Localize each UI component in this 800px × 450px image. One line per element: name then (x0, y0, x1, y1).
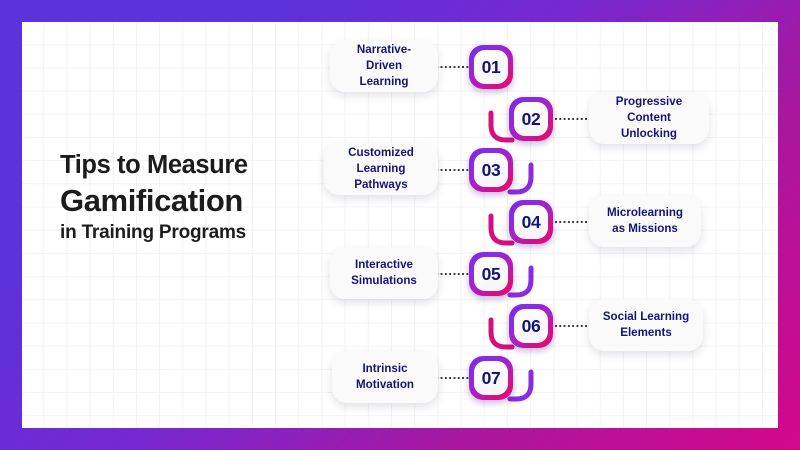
step-card-07[interactable]: Intrinsic Motivation (332, 351, 438, 403)
title-line-1: Tips to Measure (60, 150, 340, 180)
step-number-04: 04 (514, 205, 548, 239)
step-number-03: 03 (474, 153, 508, 187)
step-badge-07[interactable]: 07 (469, 356, 513, 400)
step-number-01: 01 (474, 50, 508, 84)
title-line-3: in Training Programs (60, 222, 340, 245)
connector-06-07 (510, 372, 531, 399)
step-badge-01[interactable]: 01 (469, 45, 513, 89)
step-number-05: 05 (474, 257, 508, 291)
step-badge-02[interactable]: 02 (509, 97, 553, 141)
leader-line-04 (555, 221, 593, 223)
content-canvas: Tips to Measure Gamification in Training… (22, 22, 778, 428)
step-card-03[interactable]: Customized Learning Pathways (324, 143, 438, 195)
step-card-01[interactable]: Narrative- Driven Learning (330, 40, 438, 92)
step-card-label-02: Progressive Content Unlocking (599, 94, 699, 141)
step-badge-03[interactable]: 03 (469, 148, 513, 192)
step-card-02[interactable]: Progressive Content Unlocking (589, 92, 709, 144)
step-card-label-06: Social Learning Elements (603, 309, 689, 341)
infographic-poster: Tips to Measure Gamification in Training… (0, 0, 800, 450)
step-card-label-01: Narrative- Driven Learning (340, 42, 428, 89)
step-card-06[interactable]: Social Learning Elements (589, 299, 703, 351)
step-number-02: 02 (514, 102, 548, 136)
step-badge-04[interactable]: 04 (509, 200, 553, 244)
connector-04-05 (510, 268, 531, 295)
step-card-label-07: Intrinsic Motivation (356, 361, 414, 393)
step-badge-05[interactable]: 05 (469, 252, 513, 296)
step-number-07: 07 (474, 361, 508, 395)
step-number-06: 06 (514, 309, 548, 343)
step-card-05[interactable]: Interactive Simulations (330, 247, 438, 299)
page-title: Tips to Measure Gamification in Training… (60, 150, 340, 245)
title-line-2: Gamification (60, 182, 340, 219)
step-badge-06[interactable]: 06 (509, 304, 553, 348)
step-card-label-04: Microlearning as Missions (607, 205, 683, 237)
connector-02-03 (510, 165, 531, 192)
leader-line-06 (555, 325, 593, 327)
step-card-label-05: Interactive Simulations (351, 257, 417, 289)
leader-line-02 (555, 118, 593, 120)
step-card-label-03: Customized Learning Pathways (334, 145, 428, 192)
step-card-04[interactable]: Microlearning as Missions (589, 195, 701, 247)
